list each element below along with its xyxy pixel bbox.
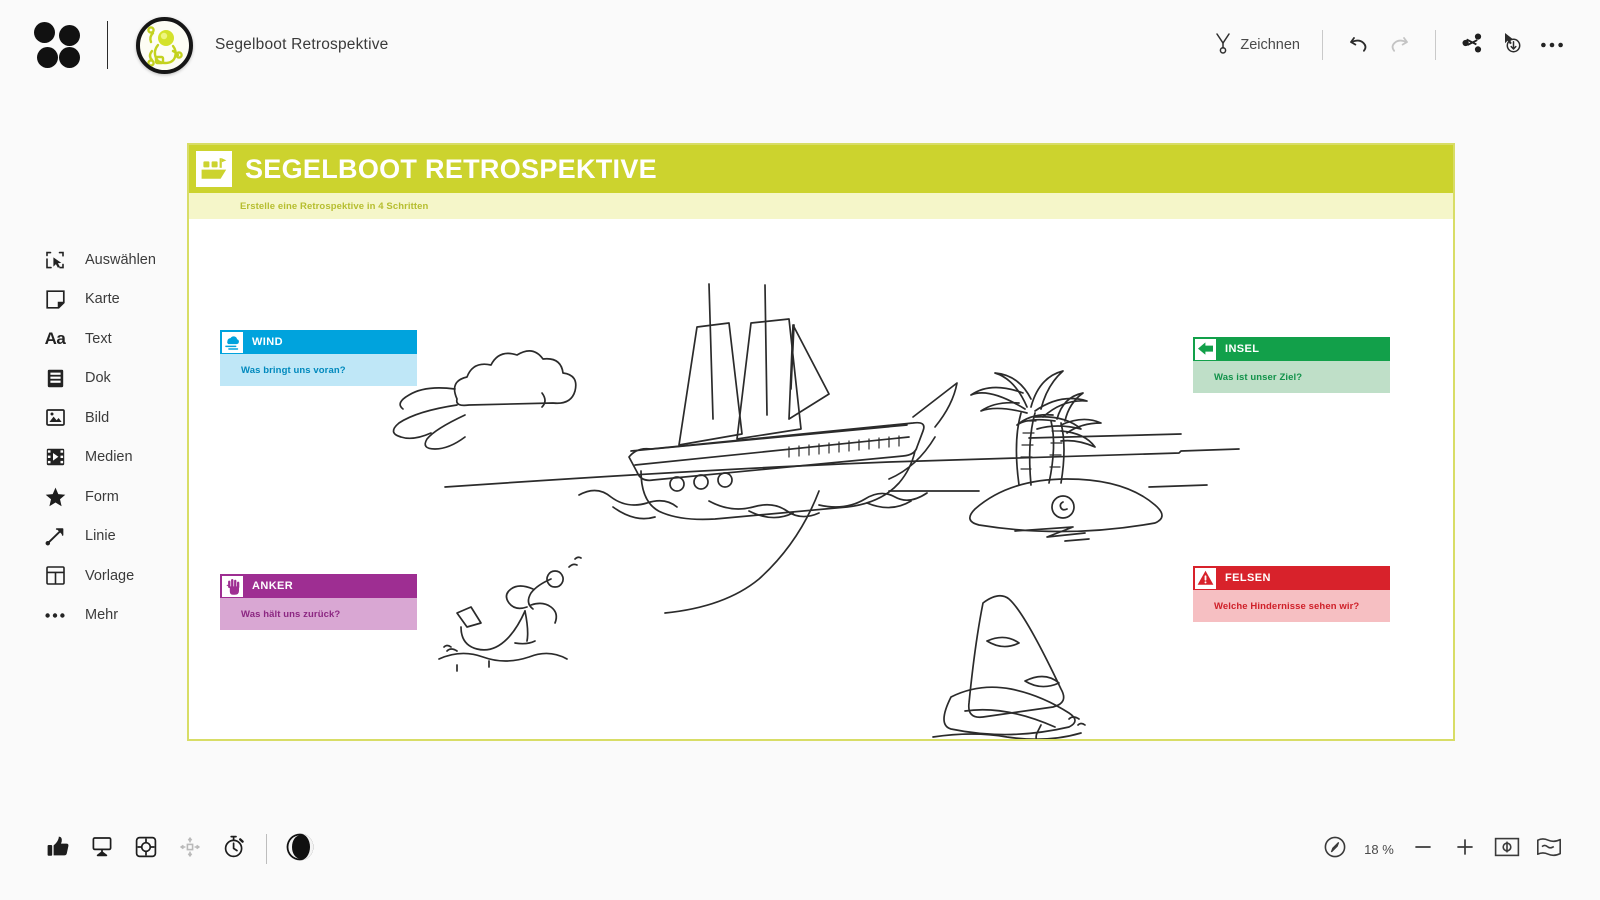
- sidebar-item-linie[interactable]: Linie: [0, 517, 180, 557]
- select-cursor-icon: [44, 249, 66, 271]
- fit-to-screen-icon: [1494, 836, 1520, 863]
- presentation-screen-icon: [91, 836, 113, 862]
- document-icon: [44, 367, 66, 389]
- draw-button[interactable]: Zeichnen: [1208, 25, 1306, 65]
- bottom-left-toolbar: [36, 830, 323, 868]
- card-felsen[interactable]: FELSEN Welche Hindernisse sehen wir?: [1193, 566, 1390, 622]
- redo-icon: [1387, 31, 1411, 60]
- line-arrow-icon: [44, 525, 66, 547]
- card-anker-body[interactable]: Was hält uns zurück?: [220, 598, 417, 630]
- card-wind-title: WIND: [252, 336, 283, 348]
- text-aa-icon: Aa: [44, 328, 66, 350]
- board-banner: SEGELBOOT RETROSPEKTIVE: [189, 145, 1453, 193]
- undo-button[interactable]: [1339, 25, 1379, 65]
- pen-draw-icon: [1214, 32, 1232, 59]
- move-button[interactable]: [168, 830, 212, 868]
- presentation-button[interactable]: [80, 830, 124, 868]
- brand-logo-icon[interactable]: [34, 22, 80, 68]
- plus-icon: [1454, 836, 1476, 863]
- user-avatar-doodle-icon[interactable]: [136, 17, 193, 74]
- zoom-in-button[interactable]: [1444, 830, 1486, 868]
- sidebar-item-label: Mehr: [85, 607, 118, 623]
- present-button[interactable]: [1492, 25, 1532, 65]
- card-felsen-title: FELSEN: [1225, 572, 1271, 584]
- brand-divider: [107, 21, 108, 69]
- contrast-circle-icon: [285, 832, 315, 867]
- timer-stopwatch-icon: [223, 835, 245, 863]
- card-felsen-question: Welche Hindernisse sehen wir?: [1214, 601, 1359, 612]
- timer-button[interactable]: [212, 830, 256, 868]
- sidebar-item-label: Medien: [85, 449, 133, 465]
- board-subtitle: Erstelle eine Retrospektive in 4 Schritt…: [240, 201, 428, 212]
- top-bar-actions: Zeichnen: [1208, 0, 1572, 90]
- more-options-button[interactable]: [1532, 25, 1572, 65]
- sidebar-item-label: Bild: [85, 410, 109, 426]
- sidebar-item-karte[interactable]: Karte: [0, 280, 180, 320]
- more-horizontal-icon: [1540, 36, 1564, 54]
- focus-button[interactable]: [124, 830, 168, 868]
- zoom-out-button[interactable]: [1402, 830, 1444, 868]
- share-button[interactable]: [1452, 25, 1492, 65]
- card-wind-header: WIND: [220, 330, 417, 354]
- sidebar-item-vorlage[interactable]: Vorlage: [0, 556, 180, 596]
- minimap-button[interactable]: [1528, 830, 1570, 868]
- card-anker[interactable]: ANKER Was hält uns zurück?: [220, 574, 417, 630]
- card-insel[interactable]: INSEL Was ist unser Ziel?: [1193, 337, 1390, 393]
- board-content[interactable]: WIND Was bringt uns voran?: [189, 219, 1453, 739]
- card-felsen-header: FELSEN: [1193, 566, 1390, 590]
- fit-to-screen-button[interactable]: [1486, 830, 1528, 868]
- pointing-hand-icon: [1195, 339, 1216, 360]
- sidebar-item-label: Auswählen: [85, 252, 156, 268]
- sidebar-item-label: Text: [85, 331, 112, 347]
- sidebar-item-label: Form: [85, 489, 119, 505]
- cursor-target-icon: [1500, 31, 1524, 60]
- left-sidebar: Auswählen Karte Aa Text: [0, 240, 180, 635]
- minus-icon: [1412, 836, 1434, 863]
- vote-button[interactable]: [36, 830, 80, 868]
- card-insel-title: INSEL: [1225, 343, 1259, 355]
- sidebar-item-label: Linie: [85, 528, 116, 544]
- toolbar-divider-2: [1435, 30, 1436, 60]
- sidebar-item-label: Vorlage: [85, 568, 134, 584]
- board-title: SEGELBOOT RETROSPEKTIVE: [245, 154, 657, 185]
- draw-button-label: Zeichnen: [1240, 37, 1300, 53]
- sailboat-icon: [196, 151, 232, 187]
- card-insel-question: Was ist unser Ziel?: [1214, 372, 1302, 383]
- undo-icon: [1347, 31, 1371, 60]
- card-felsen-body[interactable]: Welche Hindernisse sehen wir?: [1193, 590, 1390, 622]
- move-arrows-icon: [178, 835, 202, 864]
- more-horizontal-icon: [44, 604, 66, 626]
- theme-contrast-button[interactable]: [277, 830, 323, 868]
- card-anker-header: ANKER: [220, 574, 417, 598]
- thumbs-up-icon: [47, 836, 69, 862]
- bottom-right-toolbar: 18 %: [1314, 830, 1570, 868]
- sidebar-item-dok[interactable]: Dok: [0, 359, 180, 399]
- document-title[interactable]: Segelboot Retrospektive: [215, 36, 388, 54]
- card-wind[interactable]: WIND Was bringt uns voran?: [220, 330, 417, 386]
- template-grid-icon: [44, 565, 66, 587]
- shape-star-icon: [44, 486, 66, 508]
- card-anker-question: Was hält uns zurück?: [241, 609, 340, 620]
- app-window: Segelboot Retrospektive Zeichnen: [0, 0, 1600, 900]
- toolbar-divider-1: [1322, 30, 1323, 60]
- warning-triangle-icon: [1195, 568, 1216, 589]
- sidebar-item-text[interactable]: Aa Text: [0, 319, 180, 359]
- card-insel-body[interactable]: Was ist unser Ziel?: [1193, 361, 1390, 393]
- sidebar-item-form[interactable]: Form: [0, 477, 180, 517]
- share-icon: [1461, 32, 1483, 59]
- minimap-icon: [1536, 836, 1562, 863]
- board-canvas[interactable]: SEGELBOOT RETROSPEKTIVE Erstelle eine Re…: [187, 143, 1455, 741]
- card-wind-question: Was bringt uns voran?: [241, 365, 346, 376]
- compass-icon: [1323, 835, 1347, 864]
- zoom-level: 18 %: [1362, 842, 1396, 857]
- navigator-button[interactable]: [1314, 830, 1356, 868]
- sidebar-item-bild[interactable]: Bild: [0, 398, 180, 438]
- sidebar-item-auswaehlen[interactable]: Auswählen: [0, 240, 180, 280]
- card-anker-title: ANKER: [252, 580, 293, 592]
- top-bar: Segelboot Retrospektive Zeichnen: [0, 0, 1600, 90]
- sidebar-item-label: Karte: [85, 291, 120, 307]
- card-insel-header: INSEL: [1193, 337, 1390, 361]
- media-film-icon: [44, 446, 66, 468]
- sidebar-item-mehr[interactable]: Mehr: [0, 596, 180, 636]
- board-subtitle-bar: Erstelle eine Retrospektive in 4 Schritt…: [189, 193, 1453, 219]
- sidebar-item-label: Dok: [85, 370, 111, 386]
- hand-stop-icon: [222, 576, 243, 597]
- image-icon: [44, 407, 66, 429]
- bottom-left-divider: [266, 834, 267, 864]
- sailboat-illustration: [189, 219, 1453, 739]
- cloud-wind-icon: [222, 332, 243, 353]
- redo-button[interactable]: [1379, 25, 1419, 65]
- card-icon: [44, 288, 66, 310]
- card-wind-body[interactable]: Was bringt uns voran?: [220, 354, 417, 386]
- sidebar-item-medien[interactable]: Medien: [0, 438, 180, 478]
- focus-target-icon: [135, 836, 157, 863]
